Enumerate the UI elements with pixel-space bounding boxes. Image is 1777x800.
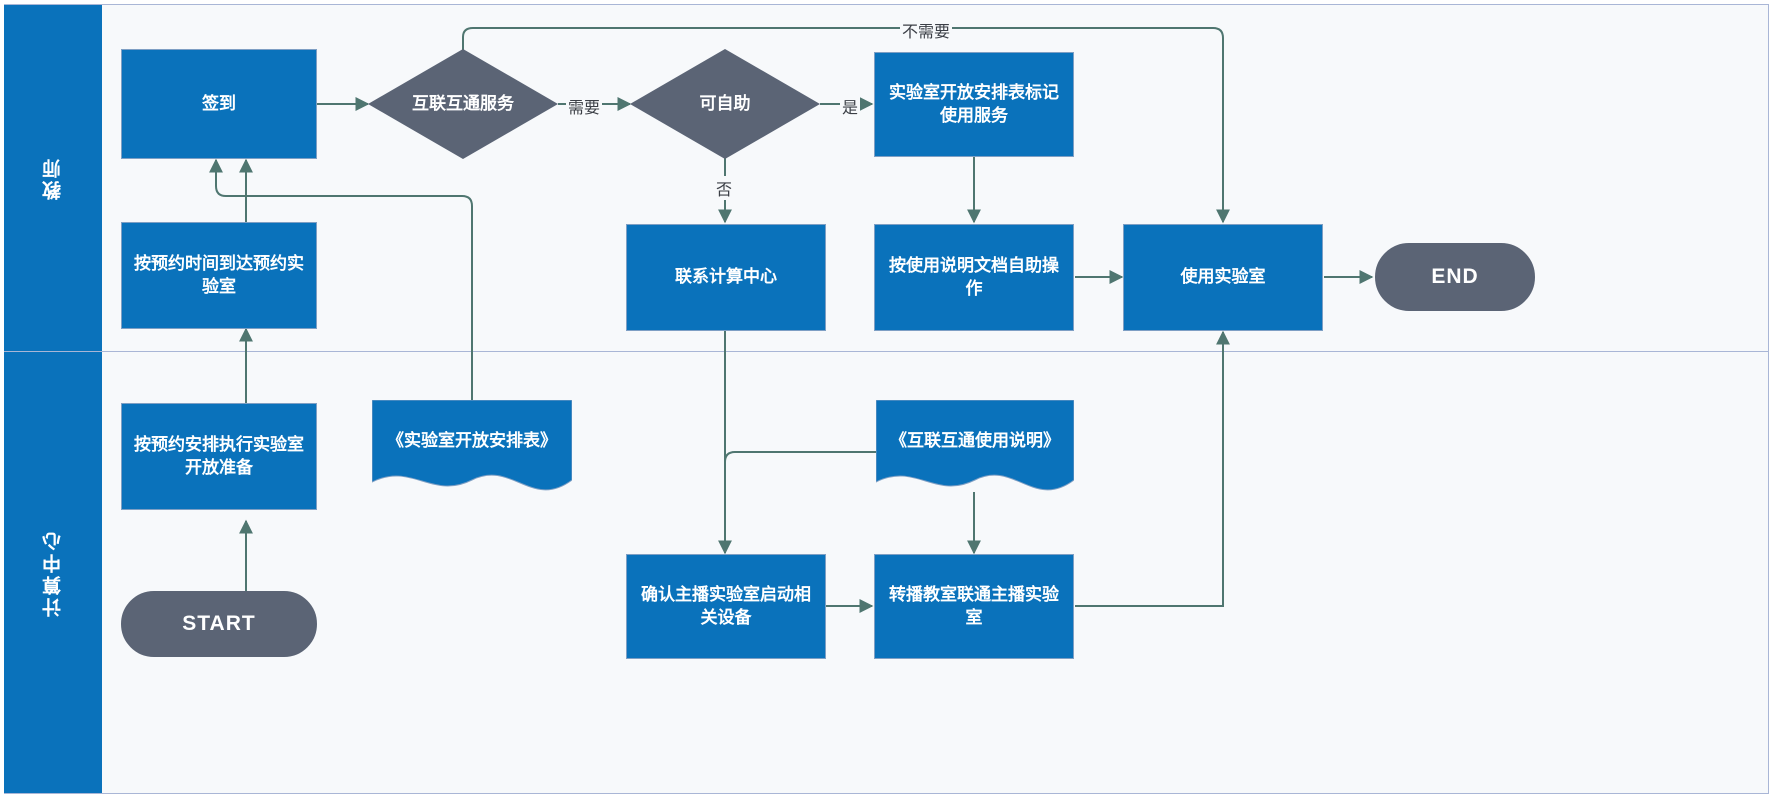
node-use-lab[interactable]: 使用实验室	[1123, 224, 1323, 331]
lane-label-teacher: 教师	[40, 156, 67, 200]
node-label: 实验室开放安排表标记使用服务	[883, 82, 1065, 128]
lane-header-teacher: 教师	[4, 5, 102, 351]
node-relay-classroom[interactable]: 转播教室联通主播实验室	[874, 554, 1074, 659]
edge-label-yes: 是	[840, 94, 860, 118]
node-label: 按预约时间到达预约实验室	[130, 253, 308, 299]
node-end[interactable]: END	[1375, 243, 1535, 311]
node-prepare-lab[interactable]: 按预约安排执行实验室开放准备	[121, 403, 317, 510]
lane-divider	[4, 351, 1769, 352]
node-label: START	[182, 610, 255, 638]
node-interconnect-service[interactable]: 互联互通服务	[368, 49, 558, 159]
node-label: 按使用说明文档自助操作	[883, 255, 1065, 301]
node-label: 按预约安排执行实验室开放准备	[130, 434, 308, 480]
lane-header-center: 计算中心	[4, 352, 102, 793]
node-label: 联系计算中心	[675, 266, 777, 289]
node-label: 可自助	[694, 93, 757, 116]
node-label: 确认主播实验室启动相关设备	[635, 584, 817, 630]
node-confirm-host-lab[interactable]: 确认主播实验室启动相关设备	[626, 554, 826, 659]
node-contact-center[interactable]: 联系计算中心	[626, 224, 826, 331]
node-start[interactable]: START	[121, 591, 317, 657]
edge-label-not-need: 不需要	[900, 18, 952, 42]
node-sign-in[interactable]: 签到	[121, 49, 317, 159]
node-label: END	[1431, 263, 1478, 291]
lane-label-center: 计算中心	[40, 529, 67, 617]
edge-label-need: 需要	[566, 94, 602, 118]
node-label: 签到	[202, 93, 236, 116]
node-doc-manual[interactable]: 《互联互通使用说明》	[876, 400, 1074, 497]
node-doc-schedule[interactable]: 《实验室开放安排表》	[372, 400, 572, 497]
edge-label-no: 否	[714, 176, 734, 200]
node-mark-schedule[interactable]: 实验室开放安排表标记使用服务	[874, 52, 1074, 157]
node-label: 互联互通服务	[406, 93, 520, 116]
flowchart-canvas: 教师 计算中心	[0, 0, 1777, 800]
node-self-operate[interactable]: 按使用说明文档自助操作	[874, 224, 1074, 331]
node-label: 《互联互通使用说明》	[876, 400, 1074, 483]
node-label: 《实验室开放安排表》	[372, 400, 572, 483]
node-self-service[interactable]: 可自助	[630, 49, 820, 159]
node-arrive-lab[interactable]: 按预约时间到达预约实验室	[121, 222, 317, 329]
node-label: 转播教室联通主播实验室	[883, 584, 1065, 630]
node-label: 使用实验室	[1181, 266, 1266, 289]
